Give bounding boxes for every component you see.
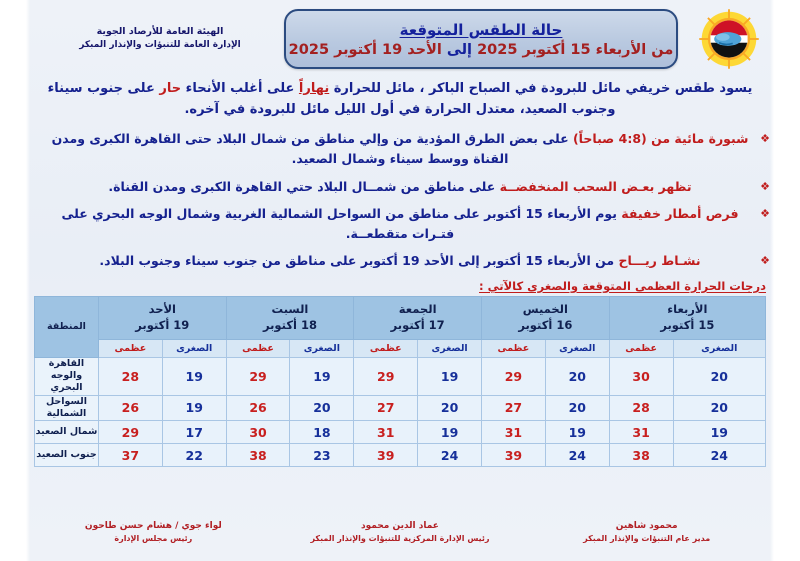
bullet-text: على مناطق من شمــال البلاد حتي القاهرة ا…	[108, 179, 495, 194]
max-cell: 26	[226, 395, 290, 421]
min-cell: 20	[545, 395, 609, 421]
table-row: 24 38 24 39 24 39 23 38 22 37 جنوب الصعي…	[35, 444, 766, 467]
bullet-diamond-icon: ❖	[760, 178, 770, 196]
signatory-name: عماد الدين محمود	[277, 520, 524, 534]
min-cell: 19	[545, 421, 609, 444]
max-cell: 37	[98, 444, 162, 467]
max-cell: 27	[482, 395, 546, 421]
bullet-text: على بعض الطرق المؤدية من وإلي مناطق من ش…	[52, 131, 569, 166]
day-date: 19 أكتوبر	[99, 318, 226, 334]
bullet-highlight: تظهر بعـض السحب المنخفضــة	[500, 179, 692, 194]
day-name: السبت	[227, 302, 354, 318]
list-item: ❖ نشـاط ريـــاح من الأربعاء 15 أكتوبر إل…	[34, 251, 766, 271]
min-cell: 20	[673, 357, 765, 395]
list-item: ❖ تظهر بعـض السحب المنخفضــة على مناطق م…	[34, 177, 766, 197]
bullet-diamond-icon: ❖	[760, 252, 770, 270]
min-cell: 20	[290, 395, 354, 421]
min-subheader-3: الصغرى	[290, 339, 354, 357]
day-date: 15 أكتوبر	[610, 318, 765, 334]
min-cell: 19	[418, 357, 482, 395]
max-cell: 29	[354, 357, 418, 395]
region-cell: السواحل الشمالية	[35, 395, 99, 421]
intro-part-1: يسود طقس خريفي مائل للبرودة في الصباح ال…	[334, 81, 753, 96]
min-cell: 24	[545, 444, 609, 467]
max-cell: 29	[482, 357, 546, 395]
list-item: ❖ فرص أمطار خفيفة يوم الأربعاء 15 أكتوبر…	[34, 204, 766, 245]
intro-part-4: حار	[159, 81, 181, 96]
max-subheader-0: عظمى	[609, 339, 673, 357]
temperature-table: الأربعاء 15 أكتوبر الخميس 16 أكتوبر الجم…	[34, 296, 766, 468]
min-subheader-0: الصغرى	[673, 339, 765, 357]
day-date: 17 أكتوبر	[354, 318, 481, 334]
forecast-bullet-list: ❖ شبورة مائية من (4:8 صباحاً) على بعض ال…	[34, 129, 766, 272]
region-cell: القاهرة والوجه البحري	[35, 357, 99, 395]
max-cell: 29	[98, 421, 162, 444]
signature-block: عماد الدين محمود رئيس الإدارة المركزية ل…	[277, 520, 524, 546]
signatory-role: مدير عام التنبؤات والإنذار المبكر	[523, 533, 770, 545]
signature-block: محمود شاهين مدير عام التنبؤات والإنذار ا…	[523, 520, 770, 546]
table-row: 19 31 19 31 19 31 18 30 17 29 شمال الصعي…	[35, 421, 766, 444]
min-cell: 22	[162, 444, 226, 467]
max-cell: 39	[354, 444, 418, 467]
bullet-text: يوم الأربعاء 15 أكتوبر على مناطق من السو…	[61, 206, 616, 241]
temperature-table-wrapper: الأربعاء 15 أكتوبر الخميس 16 أكتوبر الجم…	[34, 296, 766, 468]
day-date: 18 أكتوبر	[227, 318, 354, 334]
min-subheader-1: الصغرى	[545, 339, 609, 357]
page-header: حالة الطقس المتوقعة من الأربعاء 15 أكتوب…	[0, 0, 800, 74]
day-name: الأربعاء	[610, 302, 765, 318]
page-subtitle: من الأربعاء 15 أكتوبر 2025 إلى الأحد 19 …	[289, 42, 674, 58]
day-date: 16 أكتوبر	[482, 318, 609, 334]
organization-name: الهيئة العامة للأرصاد الجوية الإدارة الع…	[50, 25, 270, 54]
max-cell: 26	[98, 395, 162, 421]
min-cell: 19	[418, 421, 482, 444]
max-cell: 38	[609, 444, 673, 467]
signature-block: لواء جوي / هشام حسن طاحون رئيس مجلس الإد…	[30, 520, 277, 546]
table-body: 20 30 20 29 19 29 19 29 19 28 القاهرة وا…	[35, 357, 766, 467]
intro-part-3: على أغلب الأنحاء	[186, 81, 295, 96]
max-cell: 30	[226, 421, 290, 444]
max-cell: 39	[482, 444, 546, 467]
max-cell: 29	[226, 357, 290, 395]
min-cell: 19	[290, 357, 354, 395]
bullet-diamond-icon: ❖	[760, 130, 770, 148]
max-cell: 28	[98, 357, 162, 395]
org-line-2: الإدارة العامة للتنبؤات والإنذار المبكر	[50, 39, 270, 53]
forecast-page: حالة الطقس المتوقعة من الأربعاء 15 أكتوب…	[0, 0, 800, 561]
region-cell: جنوب الصعيد	[35, 444, 99, 467]
min-cell: 24	[418, 444, 482, 467]
table-head: الأربعاء 15 أكتوبر الخميس 16 أكتوبر الجم…	[35, 296, 766, 357]
min-cell: 17	[162, 421, 226, 444]
bullet-diamond-icon: ❖	[760, 205, 770, 223]
signatory-role: رئيس الإدارة المركزية للتنبؤات والإنذار …	[277, 533, 524, 545]
signatory-name: لواء جوي / هشام حسن طاحون	[30, 520, 277, 534]
min-cell: 23	[290, 444, 354, 467]
min-cell: 19	[162, 357, 226, 395]
max-subheader-1: عظمى	[482, 339, 546, 357]
table-row: 20 28 20 27 20 27 20 26 19 26 السواحل ال…	[35, 395, 766, 421]
day-name: الجمعة	[354, 302, 481, 318]
subtitle-end: الأحد 19 أكتوبر 2025	[289, 42, 442, 58]
max-cell: 28	[609, 395, 673, 421]
day-header-1: الخميس 16 أكتوبر	[482, 296, 610, 339]
region-cell: شمال الصعيد	[35, 421, 99, 444]
subtitle-connector: إلى	[447, 42, 472, 58]
bullet-highlight: نشـاط ريـــاح	[618, 253, 700, 268]
signatory-name: محمود شاهين	[523, 520, 770, 534]
day-name: الخميس	[482, 302, 609, 318]
bullet-highlight: فرص أمطار خفيفة	[621, 206, 738, 221]
subtitle-start: من الأربعاء 15 أكتوبر 2025	[477, 42, 673, 58]
max-subheader-4: عظمى	[98, 339, 162, 357]
region-column-header: المنطقة	[35, 296, 99, 357]
day-header-3: السبت 18 أكتوبر	[226, 296, 354, 339]
page-footer: محمود شاهين مدير عام التنبؤات والإنذار ا…	[30, 520, 770, 546]
max-subheader-2: عظمى	[354, 339, 418, 357]
min-cell: 19	[162, 395, 226, 421]
min-cell: 24	[673, 444, 765, 467]
list-item: ❖ شبورة مائية من (4:8 صباحاً) على بعض ال…	[34, 129, 766, 170]
day-header-0: الأربعاء 15 أكتوبر	[609, 296, 765, 339]
day-header-2: الجمعة 17 أكتوبر	[354, 296, 482, 339]
max-cell: 27	[354, 395, 418, 421]
intro-paragraph: يسود طقس خريفي مائل للبرودة في الصباح ال…	[30, 78, 770, 120]
max-subheader-3: عظمى	[226, 339, 290, 357]
table-header-row-minmax: الصغرى عظمى الصغرى عظمى الصغرى عظمى الصغ…	[35, 339, 766, 357]
max-cell: 38	[226, 444, 290, 467]
sun-emblem-icon	[698, 8, 760, 70]
max-cell: 31	[609, 421, 673, 444]
table-row: 20 30 20 29 19 29 19 29 19 28 القاهرة وا…	[35, 357, 766, 395]
min-subheader-4: الصغرى	[162, 339, 226, 357]
bullet-highlight: شبورة مائية من (4:8 صباحاً)	[573, 131, 748, 146]
org-line-1: الهيئة العامة للأرصاد الجوية	[50, 25, 270, 40]
min-subheader-2: الصغرى	[418, 339, 482, 357]
max-cell: 31	[354, 421, 418, 444]
min-cell: 20	[673, 395, 765, 421]
intro-part-2: نهاراً	[299, 81, 329, 96]
min-cell: 20	[545, 357, 609, 395]
table-header-row-days: الأربعاء 15 أكتوبر الخميس 16 أكتوبر الجم…	[35, 296, 766, 339]
day-header-4: الأحد 19 أكتوبر	[98, 296, 226, 339]
min-cell: 19	[673, 421, 765, 444]
max-cell: 30	[609, 357, 673, 395]
min-cell: 18	[290, 421, 354, 444]
title-box: حالة الطقس المتوقعة من الأربعاء 15 أكتوب…	[284, 9, 678, 69]
max-cell: 31	[482, 421, 546, 444]
day-name: الأحد	[99, 302, 226, 318]
table-caption: درجات الحرارة العظمى المتوقعة والصغرى كا…	[34, 279, 766, 293]
bullet-text: من الأربعاء 15 أكتوبر إلى الأحد 19 أكتوب…	[99, 253, 614, 268]
min-cell: 20	[418, 395, 482, 421]
page-title: حالة الطقس المتوقعة	[400, 21, 563, 39]
signatory-role: رئيس مجلس الإدارة	[30, 533, 277, 545]
authority-logo	[692, 7, 766, 71]
